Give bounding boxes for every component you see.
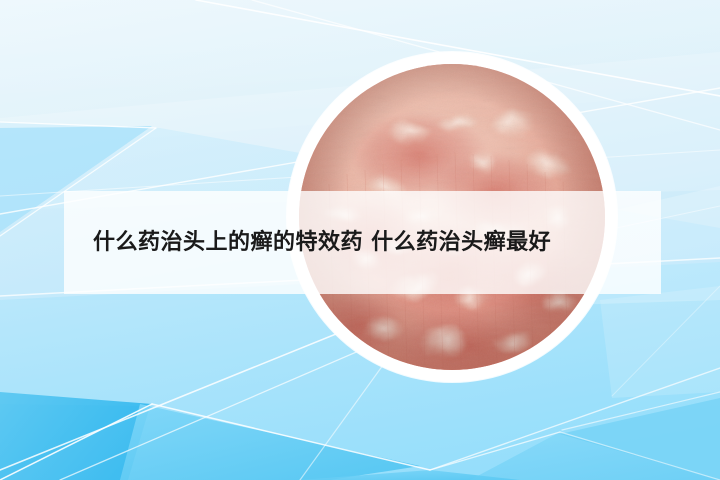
- caption-band: 什么药治头上的癣的特效药 什么药治头癣最好: [64, 191, 661, 294]
- header-card: 什么药治头上的癣的特效药 什么药治头癣最好: [0, 0, 720, 480]
- caption-title: 什么药治头上的癣的特效药 什么药治头癣最好: [64, 224, 575, 262]
